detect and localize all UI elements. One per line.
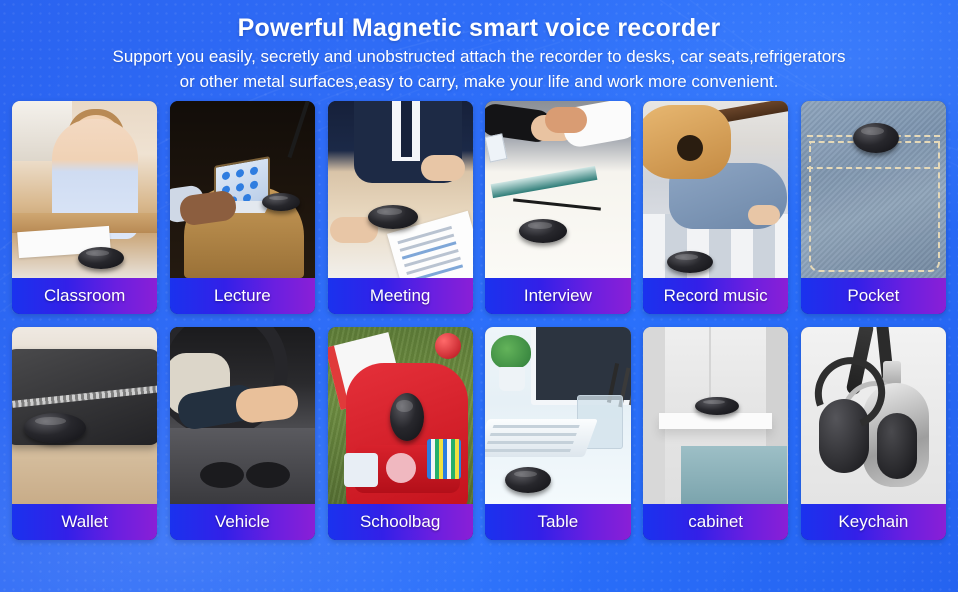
record-music-thumbnail — [643, 101, 788, 278]
classroom-thumbnail — [12, 101, 157, 278]
voice-recorder-device-icon — [853, 123, 899, 153]
use-case-row-2: Wallet Vehicle — [12, 327, 946, 540]
classroom-scene — [12, 101, 157, 278]
use-case-card-table[interactable]: Table — [485, 327, 630, 540]
cabinet-scene — [643, 327, 788, 504]
use-case-label: Record music — [643, 278, 788, 314]
lecture-scene — [170, 101, 315, 278]
use-case-card-interview[interactable]: Interview — [485, 101, 630, 314]
vehicle-scene — [170, 327, 315, 504]
voice-recorder-device-icon — [368, 205, 418, 229]
voice-recorder-device-icon — [695, 397, 739, 415]
use-case-label: Schoolbag — [328, 504, 473, 540]
table-scene — [485, 327, 630, 504]
use-case-label: Pocket — [801, 278, 946, 314]
use-case-card-meeting[interactable]: Meeting — [328, 101, 473, 314]
keychain-thumbnail — [801, 327, 946, 504]
pocket-scene — [801, 101, 946, 278]
banner-header: Powerful Magnetic smart voice recorder S… — [0, 0, 958, 94]
voice-recorder-device-icon — [24, 413, 86, 443]
interview-scene — [485, 101, 630, 278]
use-case-card-record-music[interactable]: Record music — [643, 101, 788, 314]
use-case-card-lecture[interactable]: Lecture — [170, 101, 315, 314]
page-title: Powerful Magnetic smart voice recorder — [0, 12, 958, 44]
table-thumbnail — [485, 327, 630, 504]
use-case-label: Keychain — [801, 504, 946, 540]
wallet-scene — [12, 327, 157, 504]
wallet-thumbnail — [12, 327, 157, 504]
use-case-card-keychain[interactable]: Keychain — [801, 327, 946, 540]
keychain-scene — [801, 327, 946, 504]
use-case-card-wallet[interactable]: Wallet — [12, 327, 157, 540]
voice-recorder-device-icon — [78, 247, 124, 269]
use-case-label: Meeting — [328, 278, 473, 314]
schoolbag-scene — [328, 327, 473, 504]
subtitle-line-1: Support you easily, secretly and unobstr… — [0, 44, 958, 69]
voice-recorder-device-icon — [667, 251, 713, 273]
use-case-label: Wallet — [12, 504, 157, 540]
voice-recorder-device-icon — [262, 193, 300, 211]
cabinet-thumbnail — [643, 327, 788, 504]
schoolbag-thumbnail — [328, 327, 473, 504]
product-feature-banner: Powerful Magnetic smart voice recorder S… — [0, 0, 958, 592]
use-case-label: Classroom — [12, 278, 157, 314]
use-case-label: Lecture — [170, 278, 315, 314]
pocket-thumbnail — [801, 101, 946, 278]
use-case-row-1: Classroom Lecture — [12, 101, 946, 314]
voice-recorder-device-icon — [505, 467, 551, 493]
meeting-thumbnail — [328, 101, 473, 278]
use-case-card-classroom[interactable]: Classroom — [12, 101, 157, 314]
meeting-scene — [328, 101, 473, 278]
use-case-card-cabinet[interactable]: cabinet — [643, 327, 788, 540]
use-case-label: cabinet — [643, 504, 788, 540]
use-case-label: Interview — [485, 278, 630, 314]
use-case-grid: Classroom Lecture — [12, 101, 946, 540]
vehicle-thumbnail — [170, 327, 315, 504]
use-case-card-schoolbag[interactable]: Schoolbag — [328, 327, 473, 540]
use-case-label: Table — [485, 504, 630, 540]
voice-recorder-device-icon — [519, 219, 567, 243]
voice-recorder-device-icon — [390, 393, 424, 441]
use-case-card-pocket[interactable]: Pocket — [801, 101, 946, 314]
record-music-scene — [643, 101, 788, 278]
use-case-label: Vehicle — [170, 504, 315, 540]
use-case-card-vehicle[interactable]: Vehicle — [170, 327, 315, 540]
subtitle-line-2: or other metal surfaces,easy to carry, m… — [0, 69, 958, 94]
interview-thumbnail — [485, 101, 630, 278]
lecture-thumbnail — [170, 101, 315, 278]
